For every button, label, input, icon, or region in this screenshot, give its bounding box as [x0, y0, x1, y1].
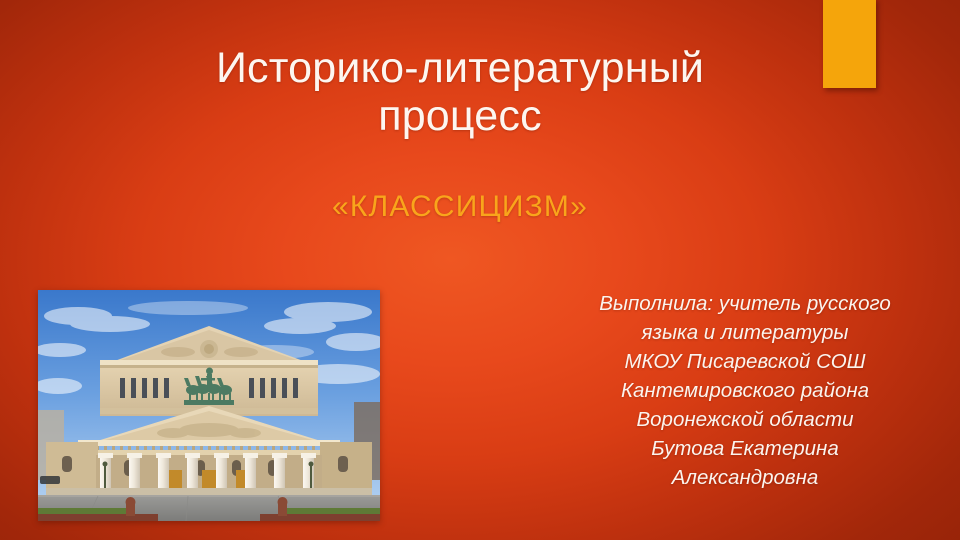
- slide-title: Историко-литературный процесс: [150, 44, 770, 140]
- presentation-slide: Историко-литературный процесс «КЛАССИЦИЗ…: [0, 0, 960, 540]
- author-line: МКОУ Писаревской СОШ: [545, 347, 945, 376]
- accent-rectangle: [823, 0, 876, 88]
- author-line: Александровна: [545, 463, 945, 492]
- bolshoi-theatre-photo: [38, 290, 380, 521]
- author-line: Кантемировского района: [545, 376, 945, 405]
- author-line: Бутова Екатерина: [545, 434, 945, 463]
- author-line: языка и литературы: [545, 318, 945, 347]
- author-line: Воронежской области: [545, 405, 945, 434]
- theatre-illustration: [38, 290, 380, 521]
- slide-subtitle: «КЛАССИЦИЗМ»: [150, 190, 770, 224]
- author-line: Выполнила: учитель русского: [545, 289, 945, 318]
- author-credits-block: Выполнила: учитель русского языка и лите…: [545, 289, 945, 492]
